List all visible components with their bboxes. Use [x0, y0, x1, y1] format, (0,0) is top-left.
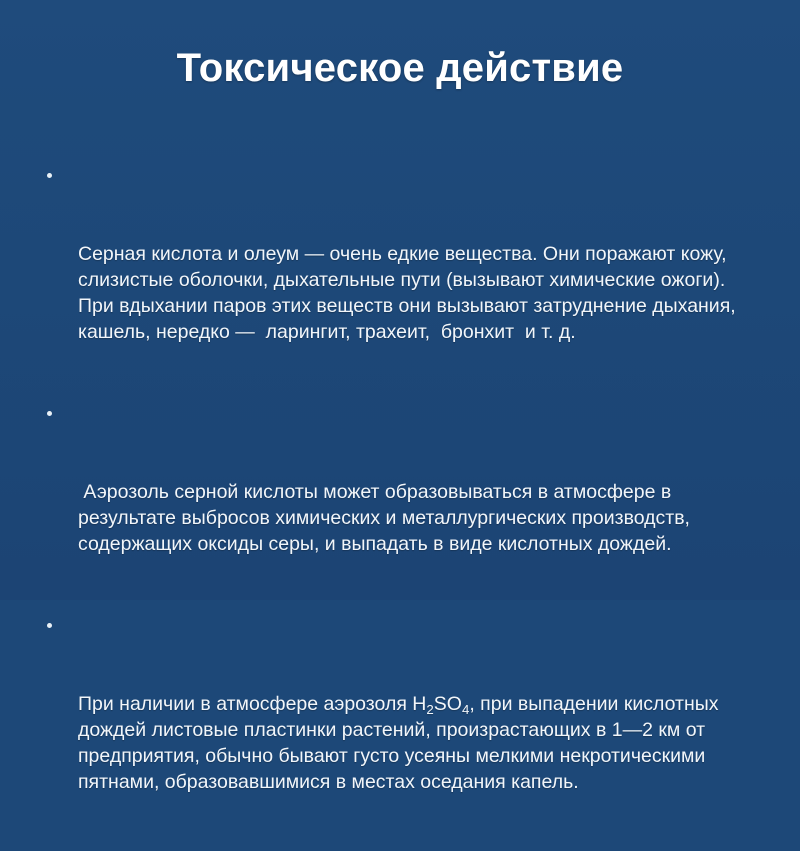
bullet-dot-icon: [47, 173, 52, 178]
bullet-text-segment-lead: При наличии в атмосфере аэрозоля H: [78, 693, 426, 715]
formula-subscript-oxygen: 4: [462, 702, 469, 717]
list-item: Аэрозоль серной кислоты может образовыва…: [40, 401, 766, 609]
formula-segment-sulfate: SO: [434, 693, 462, 715]
bullet-dot-icon: [47, 623, 52, 628]
bullet-text-corrosive-effects: Серная кислота и олеум — очень едкие вещ…: [78, 241, 766, 345]
bullet-text-aerosol-formation: Аэрозоль серной кислоты может образовыва…: [78, 479, 766, 557]
bullet-list: Серная кислота и олеум — очень едкие вещ…: [40, 163, 766, 851]
presentation-slide: Токсическое действие Серная кислота и ол…: [0, 0, 800, 600]
list-item: Серная кислота и олеум — очень едкие вещ…: [40, 163, 766, 397]
bullet-dot-icon: [47, 411, 52, 416]
bullet-text-acid-rain-plants: При наличии в атмосфере аэрозоля H2SO4, …: [78, 691, 766, 795]
list-item: При наличии в атмосфере аэрозоля H2SO4, …: [40, 613, 766, 847]
page-title: Токсическое действие: [0, 44, 800, 92]
formula-subscript-hydrogen: 2: [426, 702, 433, 717]
